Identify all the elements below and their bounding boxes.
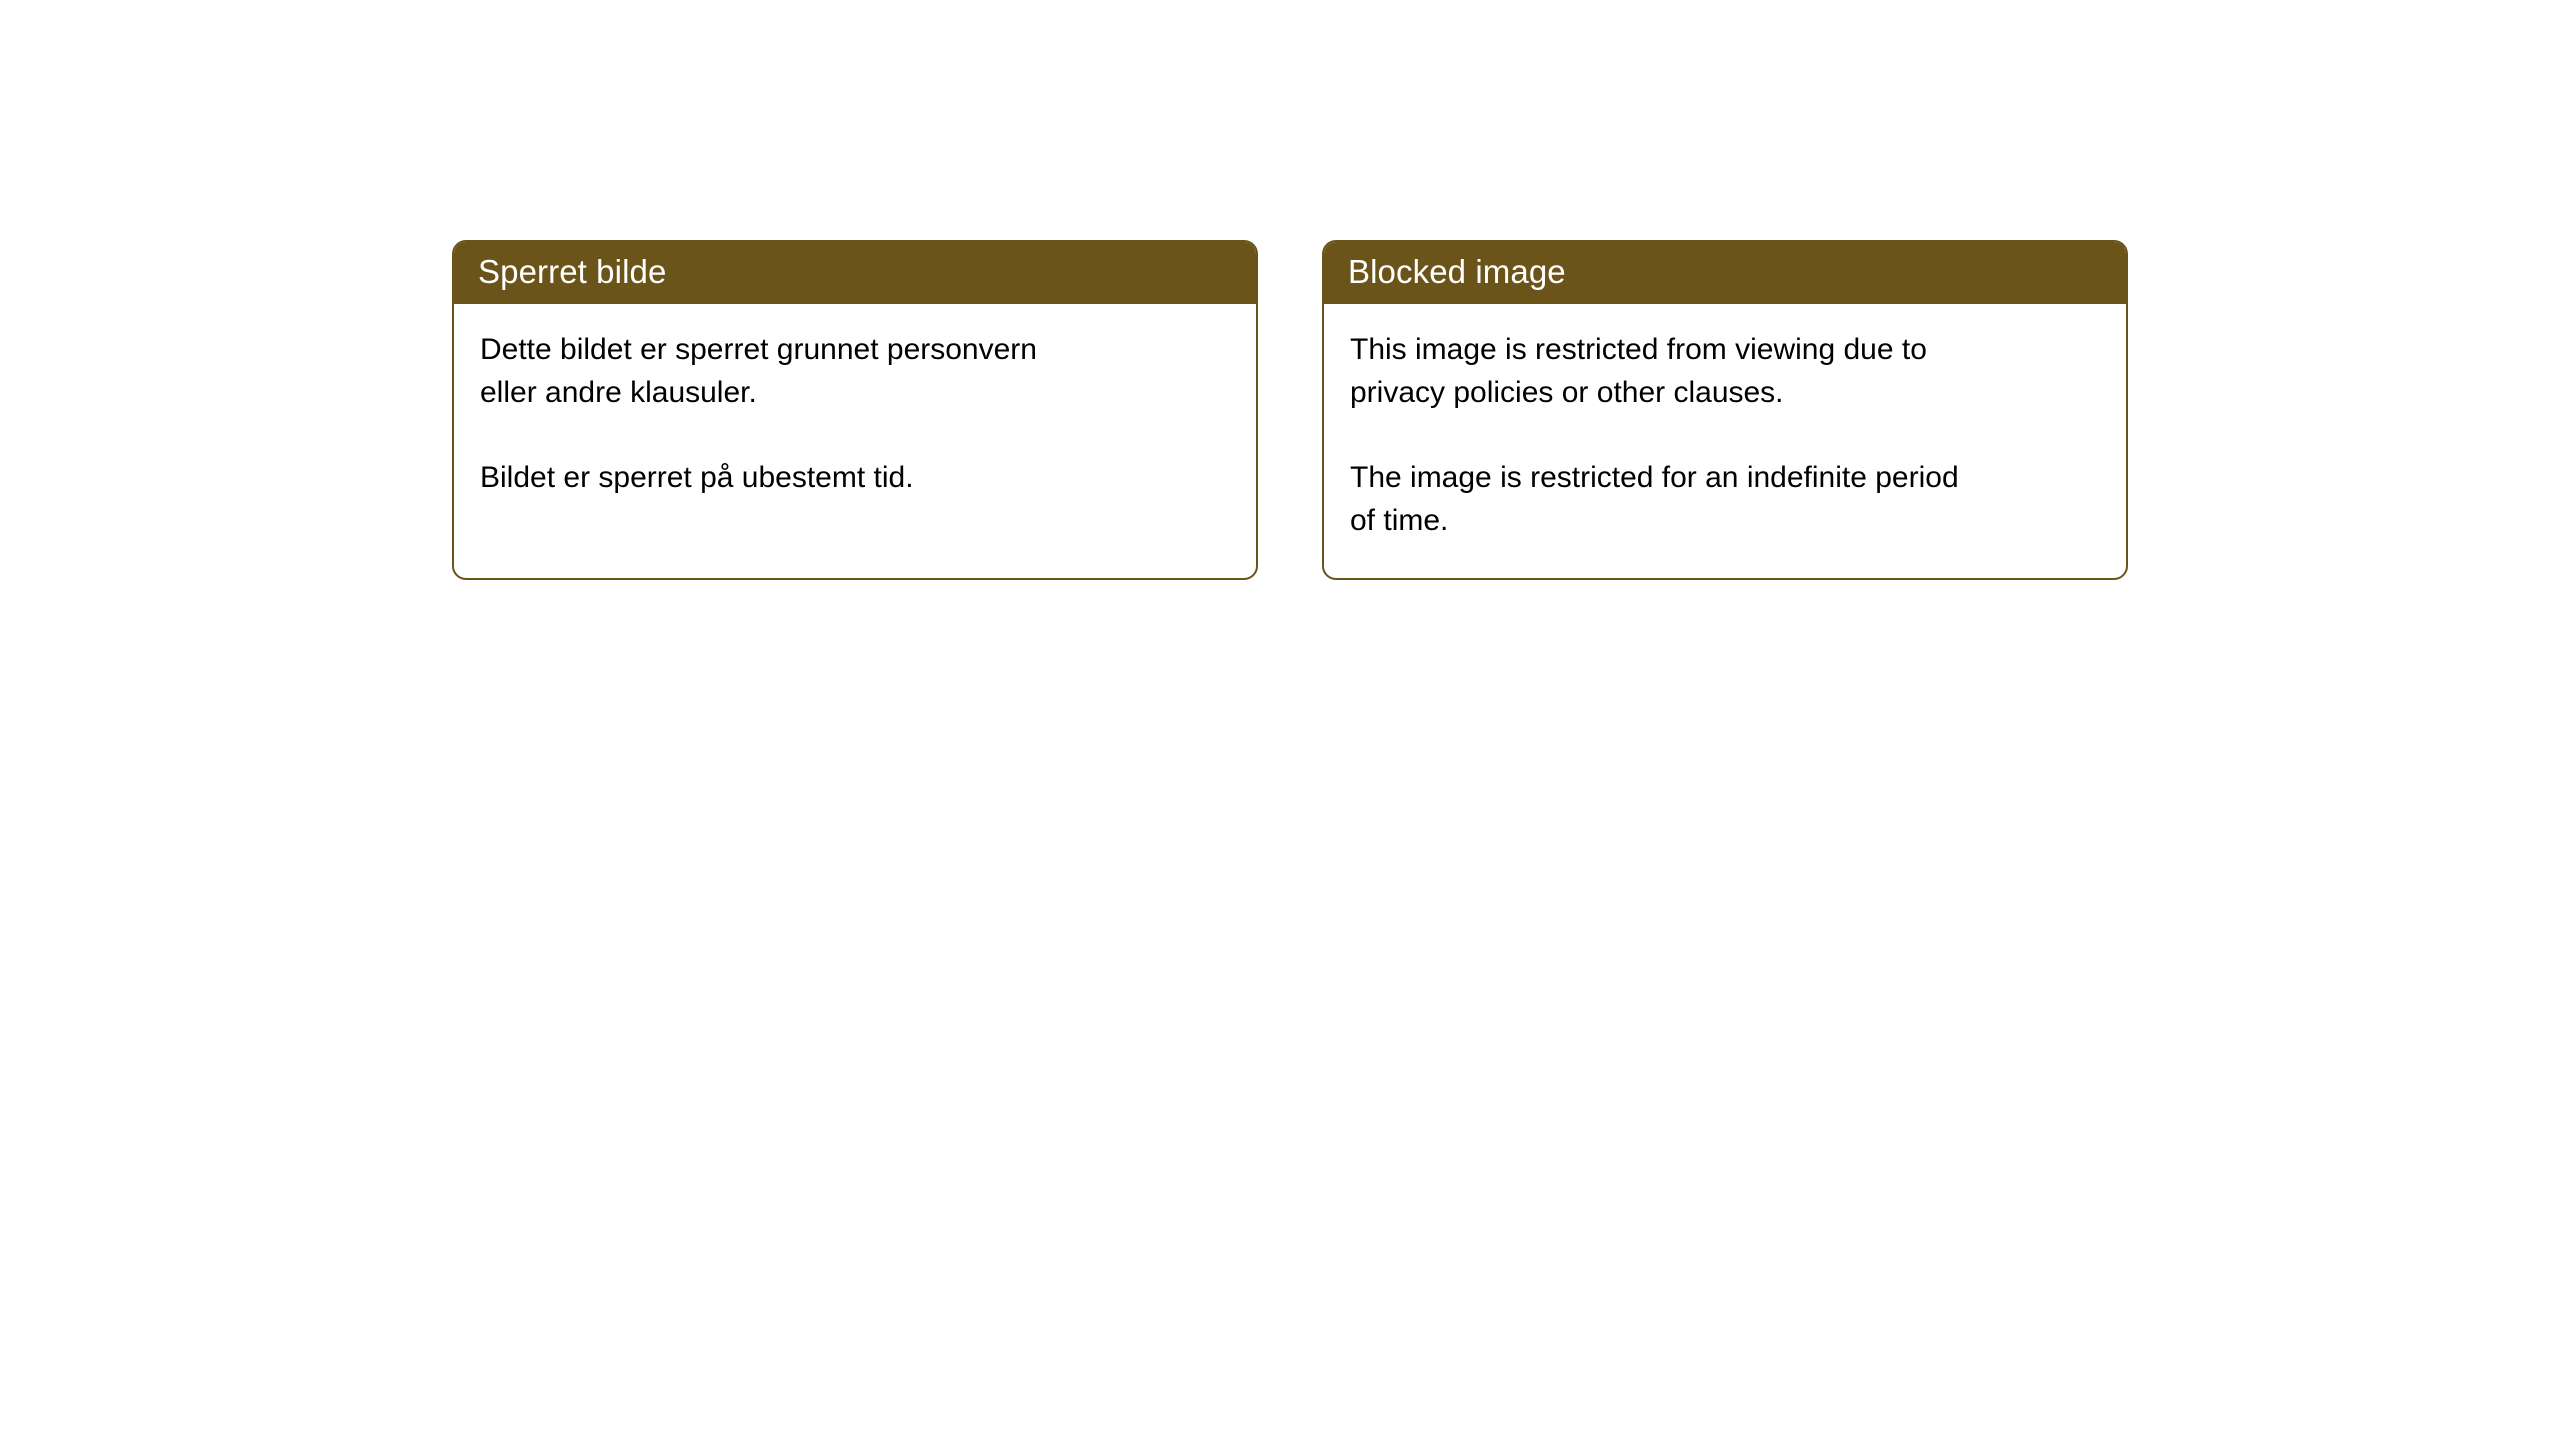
card-body-norwegian: Dette bildet er sperret grunnet personve… — [454, 304, 1256, 499]
card-header-english: Blocked image — [1322, 240, 2128, 304]
page-root: Sperret bilde Dette bildet er sperret gr… — [0, 0, 2560, 1440]
card-paragraph-restriction-duration-english: The image is restricted for an indefinit… — [1350, 456, 2100, 542]
card-body-english: This image is restricted from viewing du… — [1324, 304, 2126, 542]
card-header-norwegian: Sperret bilde — [452, 240, 1258, 304]
blocked-image-notice-card-english: Blocked image This image is restricted f… — [1322, 240, 2128, 580]
card-paragraph-restriction-reason-english: This image is restricted from viewing du… — [1350, 328, 2100, 414]
card-title-norwegian: Sperret bilde — [478, 253, 666, 291]
card-title-english: Blocked image — [1348, 253, 1566, 291]
card-paragraph-restriction-duration-norwegian: Bildet er sperret på ubestemt tid. — [480, 456, 1230, 499]
blocked-image-notice-card-norwegian: Sperret bilde Dette bildet er sperret gr… — [452, 240, 1258, 580]
card-paragraph-restriction-reason-norwegian: Dette bildet er sperret grunnet personve… — [480, 328, 1230, 414]
